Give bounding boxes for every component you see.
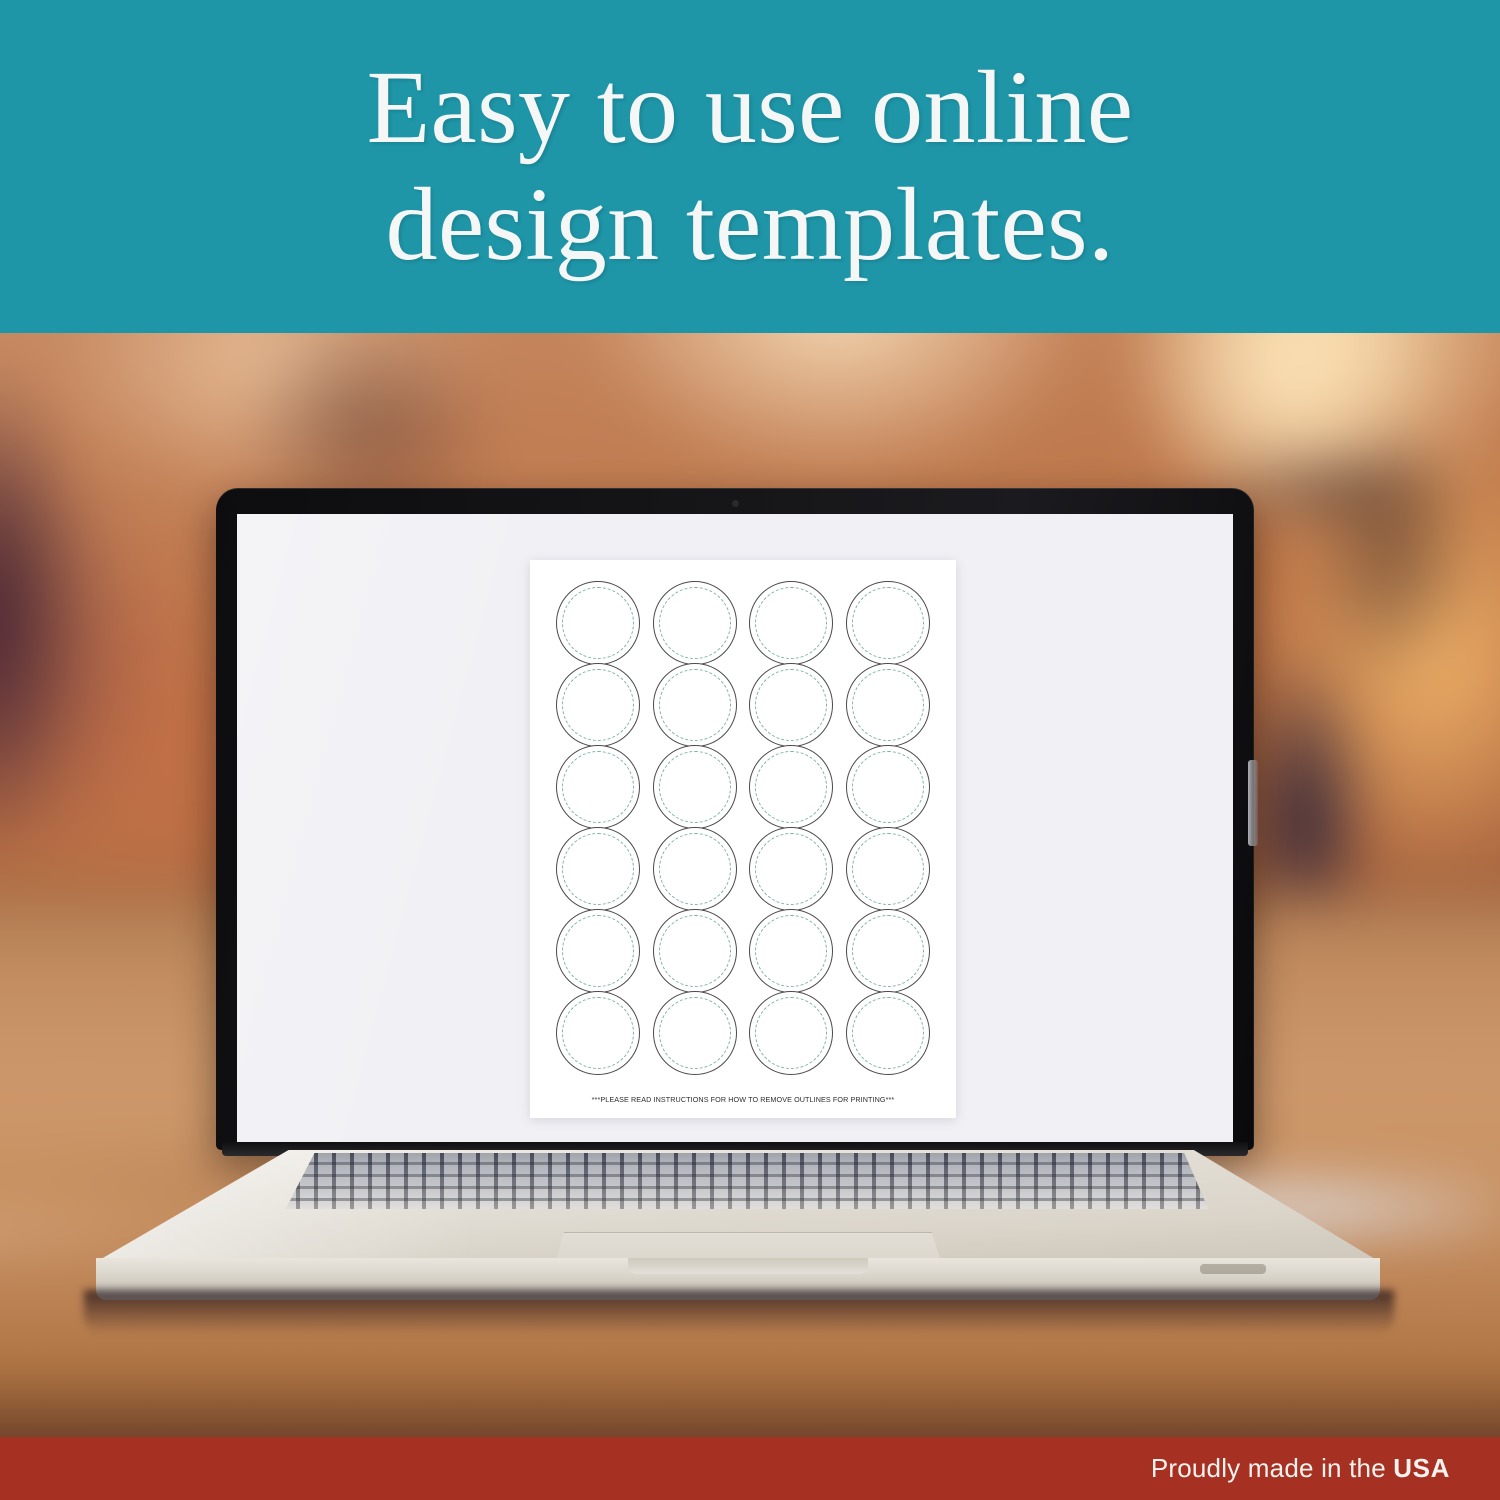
circle-label-outline <box>653 827 737 911</box>
lid-side-edge <box>1248 760 1258 846</box>
label-cell[interactable] <box>840 664 937 746</box>
footer-text-usa: USA <box>1393 1453 1450 1483</box>
circle-label-outline <box>653 991 737 1075</box>
footer-text: Proudly made in the USA <box>1151 1453 1450 1484</box>
label-cell[interactable] <box>647 992 744 1074</box>
headline-line-2: design templates. <box>367 167 1134 283</box>
circle-label-outline <box>749 745 833 829</box>
poster-canvas: ***PLEASE READ INSTRUCTIONS FOR HOW TO R… <box>0 0 1500 1500</box>
circle-label-outline <box>556 991 640 1075</box>
circle-label-outline <box>556 827 640 911</box>
circle-label-outline <box>749 991 833 1075</box>
label-cell[interactable] <box>550 746 647 828</box>
laptop-drop-shadow <box>84 1290 1394 1334</box>
circle-label-outline <box>556 581 640 665</box>
laptop-lid-release-notch <box>628 1258 868 1274</box>
label-cell[interactable] <box>840 828 937 910</box>
circle-label-outline <box>653 581 737 665</box>
label-template-document[interactable]: ***PLEASE READ INSTRUCTIONS FOR HOW TO R… <box>530 560 956 1118</box>
label-cell[interactable] <box>550 910 647 992</box>
label-cell[interactable] <box>550 828 647 910</box>
circle-label-outline <box>846 991 930 1075</box>
circle-label-outline <box>846 581 930 665</box>
headline-banner: Easy to use online design templates. <box>0 0 1500 333</box>
label-cell[interactable] <box>647 582 744 664</box>
keyboard-key-rows <box>282 1153 1212 1209</box>
label-cell[interactable] <box>840 582 937 664</box>
label-cell[interactable] <box>840 746 937 828</box>
circle-label-outline <box>846 909 930 993</box>
label-cell[interactable] <box>743 664 840 746</box>
circle-label-outline <box>846 663 930 747</box>
circle-label-outline <box>749 909 833 993</box>
label-cell[interactable] <box>647 664 744 746</box>
laptop-port <box>1200 1264 1266 1274</box>
label-cell[interactable] <box>840 910 937 992</box>
label-sheet-grid <box>530 560 956 1078</box>
circle-label-outline <box>749 827 833 911</box>
label-cell[interactable] <box>550 664 647 746</box>
circle-label-outline <box>846 745 930 829</box>
circle-label-outline <box>749 663 833 747</box>
page-title: Easy to use online design templates. <box>367 50 1134 283</box>
circle-label-outline <box>556 909 640 993</box>
label-cell[interactable] <box>743 910 840 992</box>
label-cell[interactable] <box>743 828 840 910</box>
label-cell[interactable] <box>743 746 840 828</box>
label-cell[interactable] <box>647 910 744 992</box>
circle-label-outline <box>653 745 737 829</box>
footer-text-prefix: Proudly made in the <box>1151 1453 1393 1483</box>
label-cell[interactable] <box>647 828 744 910</box>
circle-label-outline <box>653 909 737 993</box>
label-cell[interactable] <box>743 582 840 664</box>
made-in-usa-banner: Proudly made in the USA <box>0 1437 1500 1500</box>
printing-instructions-note: ***PLEASE READ INSTRUCTIONS FOR HOW TO R… <box>530 1095 956 1104</box>
label-cell[interactable] <box>840 992 937 1074</box>
circle-label-outline <box>846 827 930 911</box>
circle-label-outline <box>556 745 640 829</box>
circle-label-outline <box>556 663 640 747</box>
label-cell[interactable] <box>550 582 647 664</box>
circle-label-outline <box>749 581 833 665</box>
label-cell[interactable] <box>550 992 647 1074</box>
webcam-icon <box>732 500 739 507</box>
circle-label-outline <box>653 663 737 747</box>
label-cell[interactable] <box>743 992 840 1074</box>
label-cell[interactable] <box>647 746 744 828</box>
headline-line-1: Easy to use online <box>367 50 1134 166</box>
